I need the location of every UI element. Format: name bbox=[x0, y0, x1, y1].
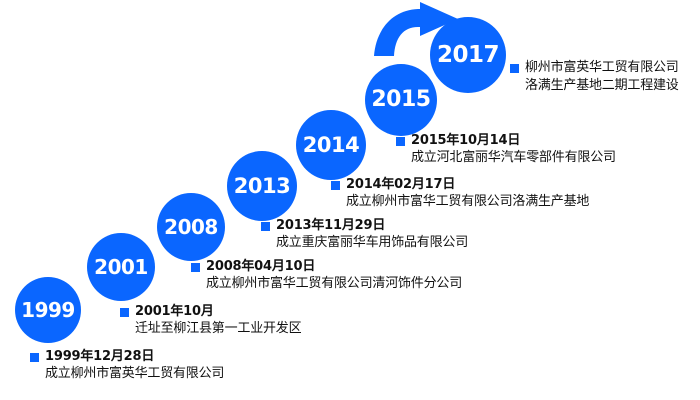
year-node-2017[interactable]: 2017 bbox=[430, 17, 506, 93]
milestone-description: 洛满生产基地二期工程建设 bbox=[525, 78, 679, 94]
milestone-date-row: 2013年11月29日 bbox=[261, 219, 468, 234]
milestone-entry-2008: 2008年04月10日 成立柳州市富华工贸有限公司清河饰件分公司 bbox=[191, 260, 462, 292]
milestone-date: 2001年10月 bbox=[135, 305, 214, 320]
year-node-1999[interactable]: 1999 bbox=[15, 277, 81, 343]
year-node-2014[interactable]: 2014 bbox=[296, 110, 366, 180]
year-node-label: 2017 bbox=[437, 44, 499, 67]
year-node-2013[interactable]: 2013 bbox=[227, 151, 297, 221]
year-node-label: 2013 bbox=[234, 176, 290, 197]
milestone-date: 2013年11月29日 bbox=[276, 219, 385, 234]
milestone-date-row: 2001年10月 bbox=[120, 305, 301, 320]
milestone-entry-2013: 2013年11月29日 成立重庆富丽华车用饰品有限公司 bbox=[261, 219, 468, 251]
milestone-description: 成立柳州市富华工贸有限公司洛满生产基地 bbox=[346, 194, 589, 210]
milestone-description: 成立河北富丽华汽车零部件有限公司 bbox=[411, 150, 616, 166]
milestone-date: 2015年10月14日 bbox=[411, 134, 520, 149]
square-bullet-icon bbox=[191, 263, 200, 272]
timeline-infographic: 1999 2001 2008 2013 2014 2015 2017 1999年… bbox=[0, 0, 700, 400]
square-bullet-icon bbox=[30, 353, 39, 362]
milestone-date: 1999年12月28日 bbox=[45, 350, 154, 365]
square-bullet-icon bbox=[396, 137, 405, 146]
year-node-2015[interactable]: 2015 bbox=[365, 64, 437, 136]
milestone-description: 成立柳州市富英华工贸有限公司 bbox=[45, 366, 224, 382]
milestone-date-row: 2008年04月10日 bbox=[191, 260, 462, 275]
year-node-label: 2014 bbox=[303, 135, 359, 156]
milestone-date: 2014年02月17日 bbox=[346, 178, 455, 193]
milestone-entry-2017: 柳州市富英华工贸有限公司 洛满生产基地二期工程建设 bbox=[510, 61, 679, 94]
square-bullet-icon bbox=[120, 308, 129, 317]
milestone-description: 迁址至柳江县第一工业开发区 bbox=[135, 321, 301, 337]
year-node-label: 2008 bbox=[164, 217, 218, 237]
square-bullet-icon bbox=[510, 64, 519, 73]
milestone-entry-2001: 2001年10月 迁址至柳江县第一工业开发区 bbox=[120, 305, 301, 337]
year-node-2001[interactable]: 2001 bbox=[87, 233, 155, 301]
milestone-date-row: 2014年02月17日 bbox=[331, 178, 589, 193]
year-node-2008[interactable]: 2008 bbox=[157, 193, 225, 261]
milestone-description: 成立柳州市富华工贸有限公司清河饰件分公司 bbox=[206, 276, 462, 292]
milestone-date: 2008年04月10日 bbox=[206, 260, 315, 275]
square-bullet-icon bbox=[331, 181, 340, 190]
milestone-date-row: 柳州市富英华工贸有限公司 bbox=[510, 61, 679, 76]
milestone-entry-2014: 2014年02月17日 成立柳州市富华工贸有限公司洛满生产基地 bbox=[331, 178, 589, 210]
milestone-date-row: 1999年12月28日 bbox=[30, 350, 224, 365]
milestone-date: 柳州市富英华工贸有限公司 bbox=[525, 61, 679, 76]
milestone-entry-1999: 1999年12月28日 成立柳州市富英华工贸有限公司 bbox=[30, 350, 224, 382]
square-bullet-icon bbox=[261, 222, 270, 231]
year-node-label: 2001 bbox=[94, 257, 148, 277]
milestone-entry-2015: 2015年10月14日 成立河北富丽华汽车零部件有限公司 bbox=[396, 134, 616, 166]
year-node-label: 1999 bbox=[21, 300, 75, 320]
milestone-description: 成立重庆富丽华车用饰品有限公司 bbox=[276, 235, 468, 251]
year-node-label: 2015 bbox=[371, 89, 430, 111]
milestone-date-row: 2015年10月14日 bbox=[396, 134, 616, 149]
